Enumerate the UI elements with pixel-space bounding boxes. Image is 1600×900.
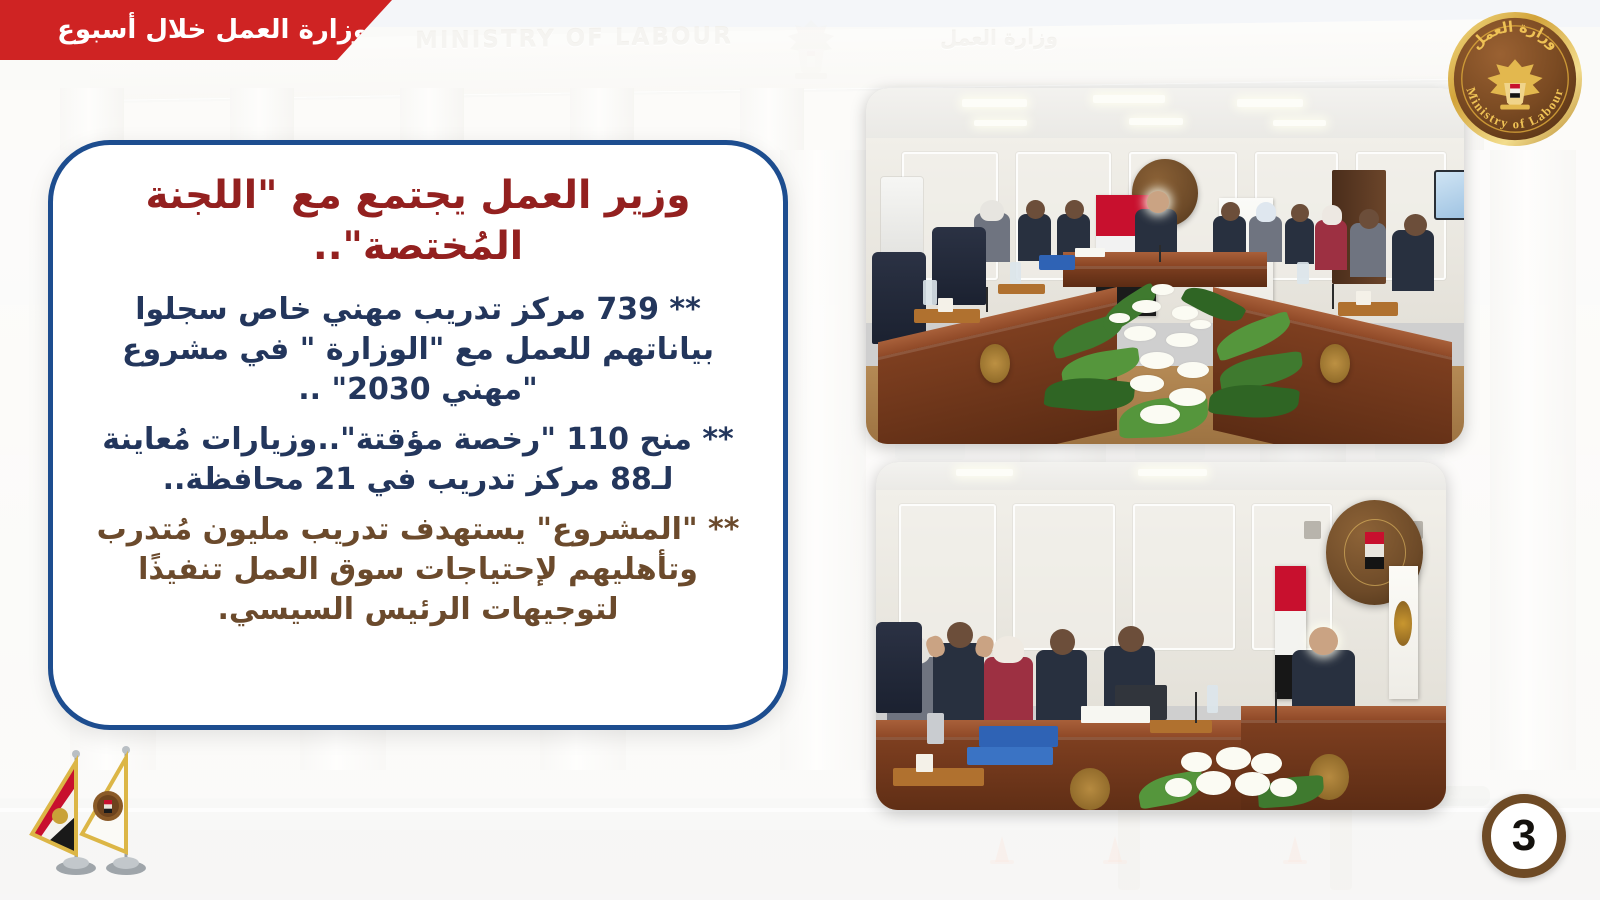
page-title: وزير العمل يجتمع مع "اللجنة المُختصة".. [87,171,749,272]
desk-flags [18,742,198,892]
ministry-seal-logo: وزارة العمل Ministry of Labour [1446,10,1584,148]
news-text-card: وزير العمل يجتمع مع "اللجنة المُختصة".. … [48,140,788,730]
bullet-paragraph-3: ** "المشروع" يستهدف تدريب مليون مُتدرب و… [87,510,749,630]
header-ribbon: وزارة العمل خلال أسبوع [0,0,392,60]
bullet-paragraph-1: ** 739 مركز تدريب مهني خاص سجلوا بياناته… [87,290,749,410]
slide-canvas: MINISTRY OF LABOUR وزارة العمل [0,0,1600,900]
page-number-badge: 3 [1482,794,1566,878]
photo-meeting-wide [866,88,1464,444]
bullet-paragraph-2: ** منح 110 "رخصة مؤقتة"..وزيارات مُعاينة… [87,420,749,500]
header-ribbon-label: وزارة العمل خلال أسبوع [23,17,369,43]
photo-meeting-minister [876,462,1446,810]
page-number: 3 [1512,814,1536,858]
